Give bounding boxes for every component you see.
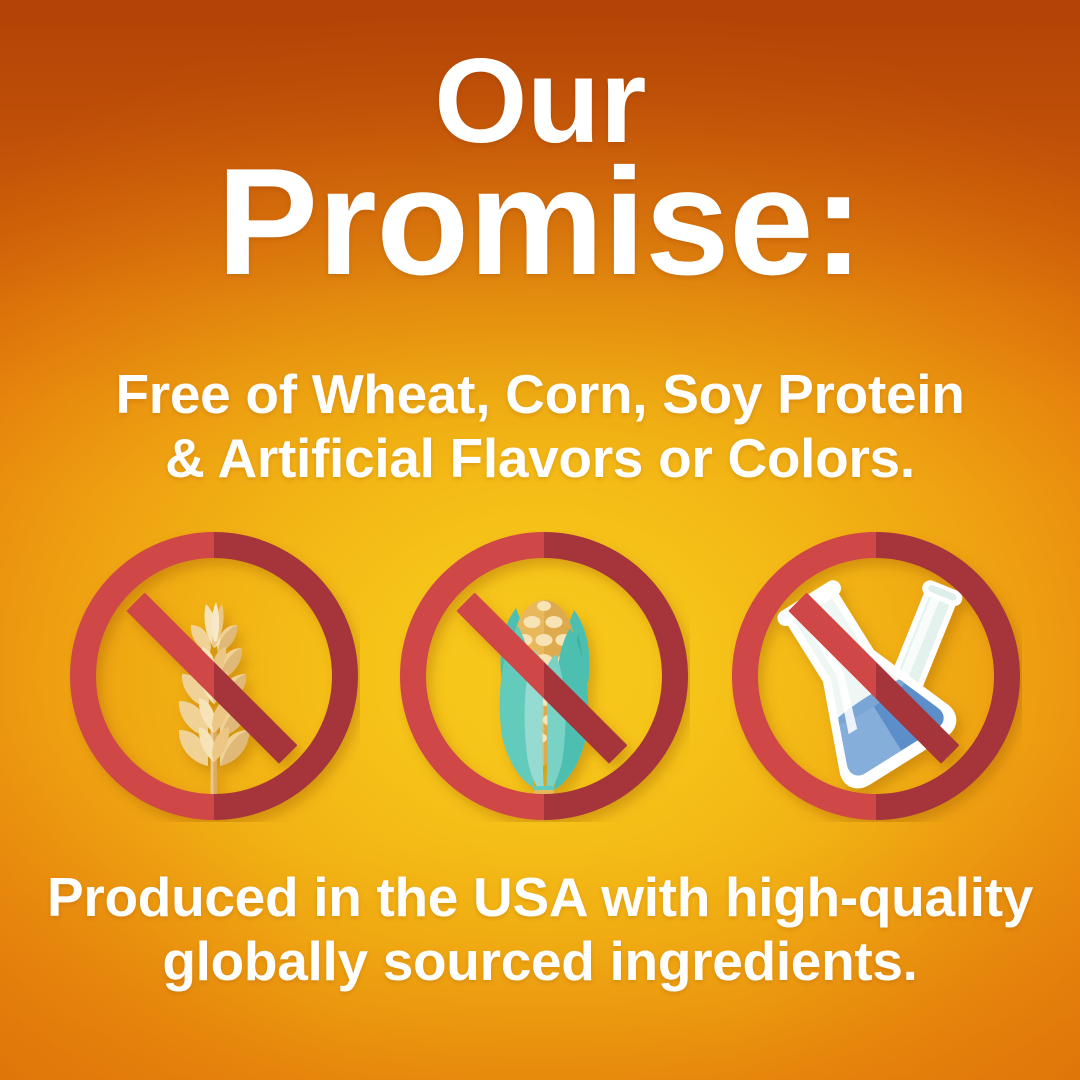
- footer-text: Produced in the USA with high-quality gl…: [24, 866, 1056, 994]
- no-corn-badge: [398, 530, 690, 822]
- subheadline: Free of Wheat, Corn, Soy Protein & Artif…: [60, 362, 1020, 491]
- icon-row: [0, 530, 1080, 830]
- subheadline-line-2: & Artificial Flavors or Colors.: [60, 426, 1020, 490]
- prohibition-ring: [413, 545, 675, 807]
- headline: Our Promise:: [0, 46, 1080, 293]
- promise-poster: Our Promise: Free of Wheat, Corn, Soy Pr…: [0, 0, 1080, 1080]
- footer-line-2: globally sourced ingredients.: [24, 930, 1056, 994]
- subheadline-line-1: Free of Wheat, Corn, Soy Protein: [60, 362, 1020, 426]
- no-wheat-badge: [68, 530, 360, 822]
- footer-line-1: Produced in the USA with high-quality: [24, 866, 1056, 930]
- no-artificial-badge: [730, 530, 1022, 822]
- headline-line-2: Promise:: [0, 152, 1080, 293]
